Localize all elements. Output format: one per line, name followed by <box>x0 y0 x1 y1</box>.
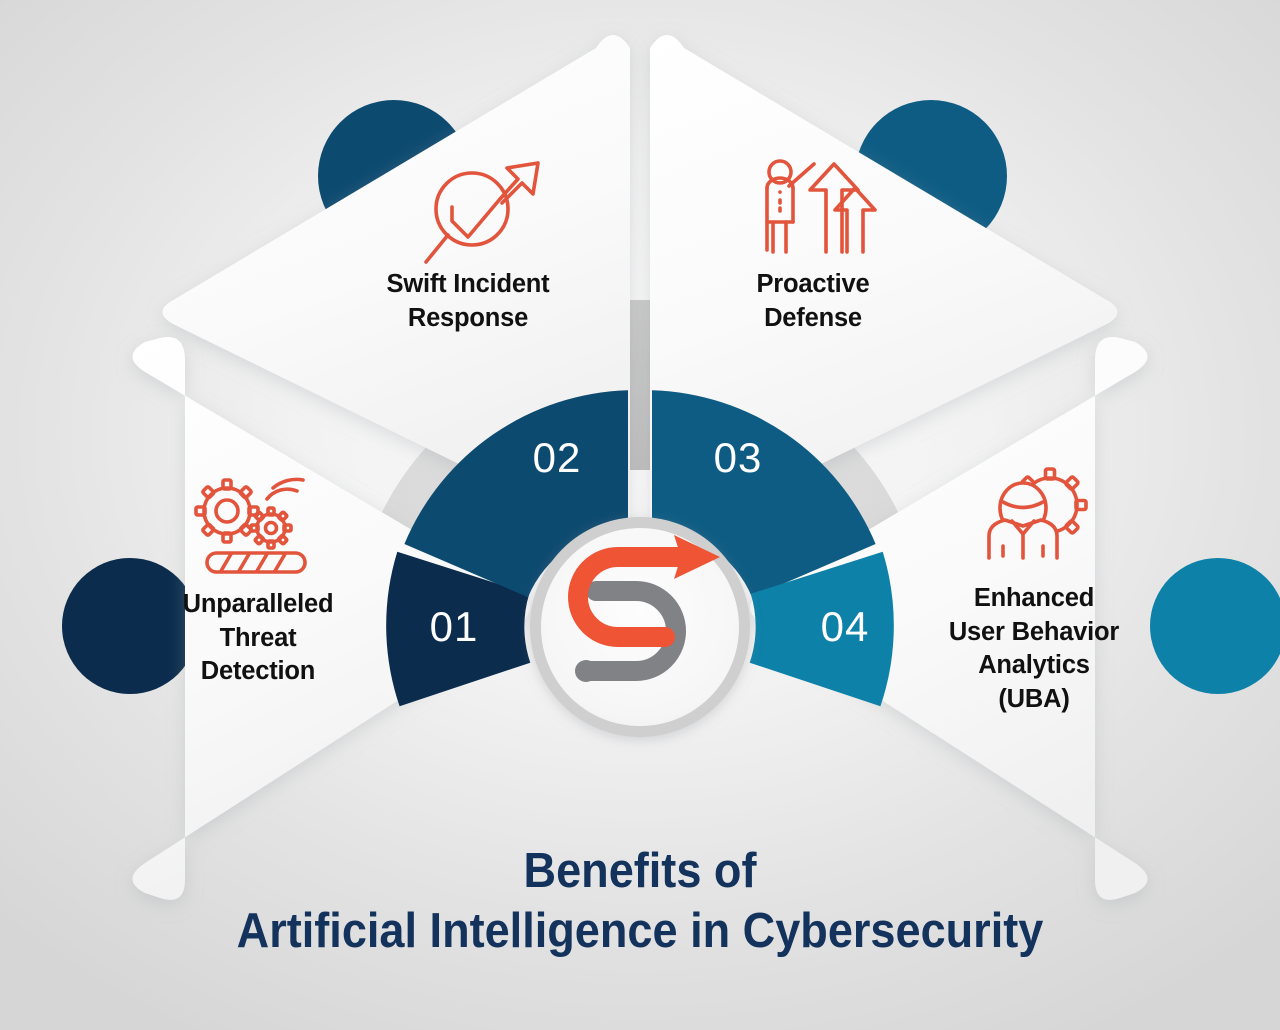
segment-03-number: 03 <box>693 434 783 482</box>
panel-label-swift-incident-response: Swift Incident Response <box>348 268 588 335</box>
segment-04-number: 04 <box>800 603 890 651</box>
infographic-canvas: 01 02 03 04 Unparalleled Threat Detectio… <box>0 0 1280 1030</box>
page-title: Benefits of Artificial Intelligence in C… <box>51 842 1229 962</box>
panel-label-proactive-defense: Proactive Defense <box>700 268 926 335</box>
segment-01-number: 01 <box>409 603 499 651</box>
panel-label-unparalleled-threat-detection: Unparalleled Threat Detection <box>150 588 366 689</box>
page-title-line-2: Artificial Intelligence in Cybersecurity <box>51 902 1229 962</box>
segment-02-number: 02 <box>512 434 602 482</box>
page-title-line-1: Benefits of <box>51 842 1229 902</box>
panel-label-enhanced-user-behavior-analytics: Enhanced User Behavior Analytics (UBA) <box>920 582 1148 717</box>
